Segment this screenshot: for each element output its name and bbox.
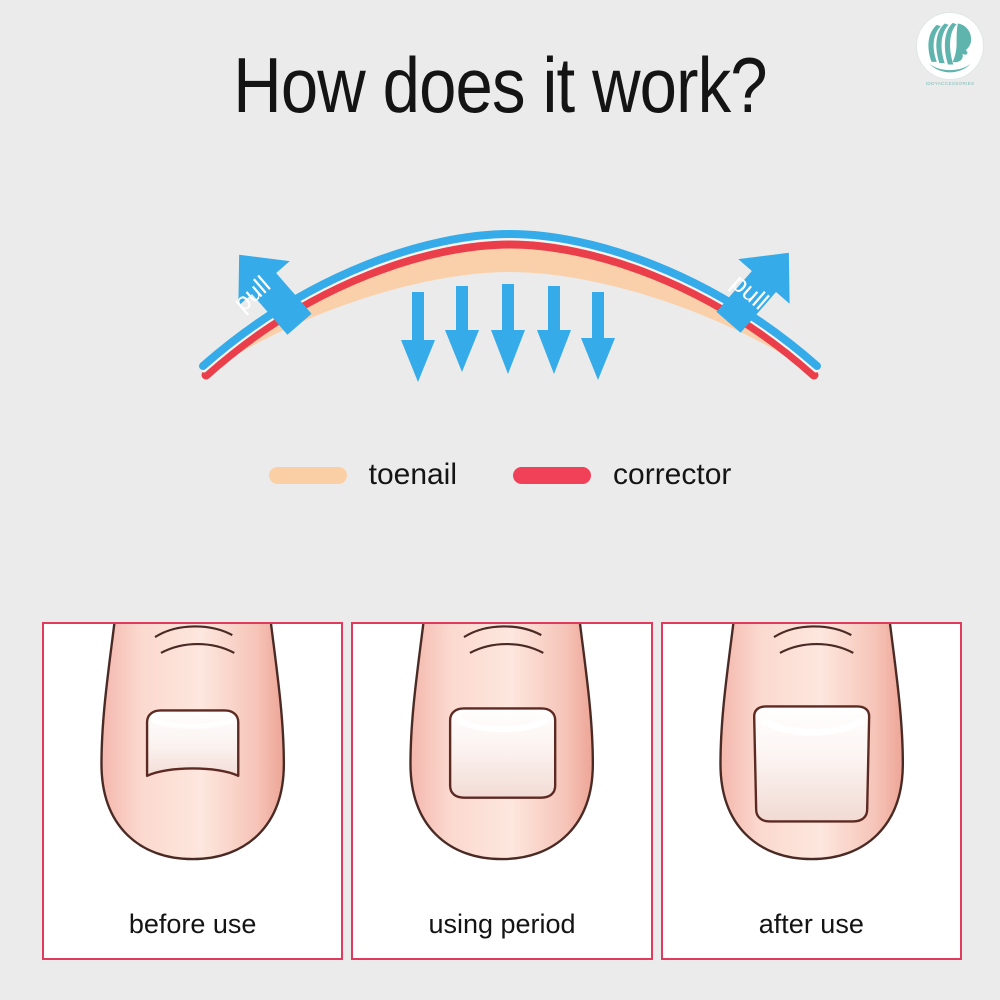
page-title: How does it work?: [70, 46, 930, 124]
panel-after-use: after use: [661, 622, 962, 960]
pressure-arrows: [401, 284, 615, 382]
legend-label-toenail: toenail: [369, 458, 457, 492]
legend-label-corrector: corrector: [613, 458, 731, 492]
mechanism-diagram: pull pull: [190, 220, 830, 400]
stage-panels: before use: [42, 622, 962, 960]
logo-brand-text: IDDYACCESSORIES: [926, 81, 975, 86]
toe-illustration-using: [353, 624, 650, 894]
toe-illustration-after: [663, 624, 960, 894]
panel-using-period: using period: [351, 622, 652, 960]
panel-caption-using: using period: [353, 909, 650, 940]
panel-caption-before: before use: [44, 909, 341, 940]
toe-illustration-before: [44, 624, 341, 894]
legend-item-toenail: toenail: [269, 458, 457, 492]
legend-swatch-toenail: [269, 467, 347, 484]
panel-before-use: before use: [42, 622, 343, 960]
panel-caption-after: after use: [663, 909, 960, 940]
legend-swatch-corrector: [513, 467, 591, 484]
legend-item-corrector: corrector: [513, 458, 731, 492]
diagram-legend: toenail corrector: [0, 458, 1000, 492]
